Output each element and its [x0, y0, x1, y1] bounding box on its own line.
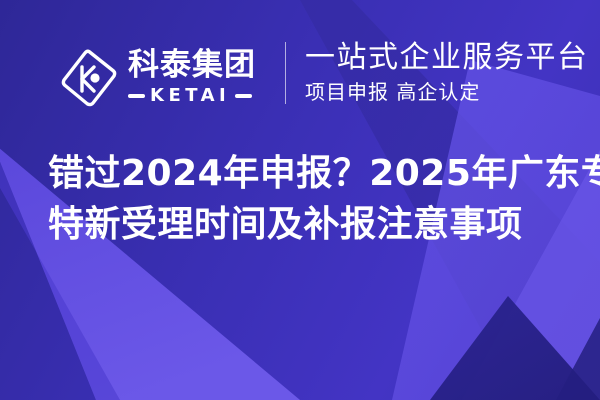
logo-right-rule-icon	[235, 94, 252, 98]
headline-block: 错过2024年申报？2025年广东专精 特新受理时间及补报注意事项	[48, 148, 568, 250]
logo-wordmark: 科泰集团 KETAI	[128, 50, 256, 107]
logo-left-rule-icon	[128, 94, 145, 98]
slogan-main-text: 一站式企业服务平台	[305, 40, 585, 75]
vertical-divider-icon	[285, 42, 286, 104]
logo-chinese-name: 科泰集团	[128, 50, 256, 82]
headline-line-1: 错过2024年申报？2025年广东专精	[48, 148, 568, 199]
slogan-sub-text: 项目申报 高企认定	[305, 80, 585, 104]
headline-line-2: 特新受理时间及补报注意事项	[48, 199, 568, 250]
brand-logo[interactable]: 科泰集团 KETAI	[60, 38, 256, 118]
logo-english-name: KETAI	[150, 85, 230, 106]
logo-english-row: KETAI	[128, 85, 256, 106]
promo-banner: 科泰集团 KETAI 一站式企业服务平台 项目申报 高企认定 错过2024年申报…	[0, 0, 600, 400]
slogan-block: 一站式企业服务平台 项目申报 高企认定	[305, 40, 585, 104]
ketai-diamond-kt-monogram-icon	[60, 47, 118, 109]
